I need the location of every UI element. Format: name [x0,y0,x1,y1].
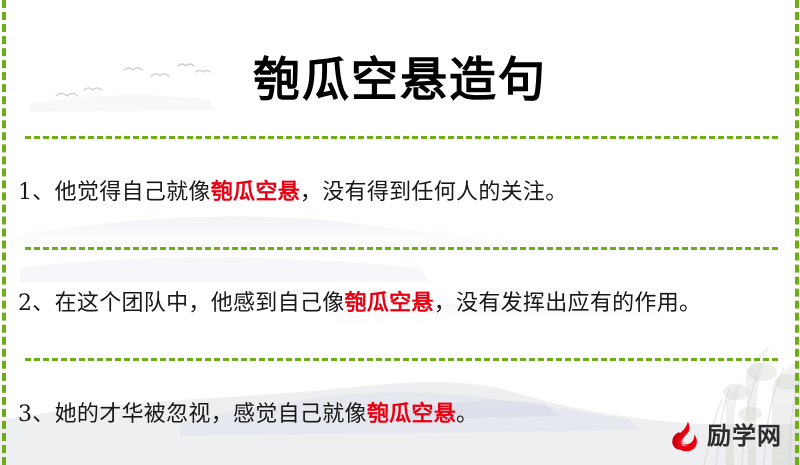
divider-top [25,136,778,139]
frame-border-left [2,0,6,465]
highlight-term-3: 匏瓜空悬 [367,401,456,427]
site-logo[interactable]: 励学网 [667,419,782,453]
highlight-term-2: 匏瓜空悬 [345,290,434,316]
page-title: 匏瓜空悬造句 [0,31,800,104]
sentence-text-before-3: 她的才华被忽视，感觉自己就像 [55,402,367,427]
sentence-text-before-1: 他觉得自己就像 [55,180,211,205]
divider-after-sentence-1 [25,247,778,250]
highlight-term-1: 匏瓜空悬 [211,179,300,205]
sentence-item-2: 2、在这个团队中，他感到自己像匏瓜空悬，没有发挥出应有的作用。 [0,272,800,336]
sentence-text-before-2: 在这个团队中，他感到自己像 [55,291,345,316]
worksheet-page: 匏瓜空悬造句 1、他觉得自己就像匏瓜空悬，没有得到任何人的关注。 2、在这个团队… [0,0,800,465]
sentence-text-after-2: ，没有发挥出应有的作用。 [434,291,702,316]
sentence-text-after-3: 。 [456,402,478,427]
sentence-index-1: 1、 [18,180,55,205]
sentence-index-3: 3、 [18,402,55,427]
sentence-item-1: 1、他觉得自己就像匏瓜空悬，没有得到任何人的关注。 [0,161,800,225]
sentence-text-after-1: ，没有得到任何人的关注。 [300,180,568,205]
divider-after-sentence-2 [25,358,778,361]
sentence-index-2: 2、 [18,291,55,316]
frame-border-right [795,0,799,465]
flame-swirl-icon [667,419,701,453]
site-logo-text: 励学网 [707,424,782,448]
